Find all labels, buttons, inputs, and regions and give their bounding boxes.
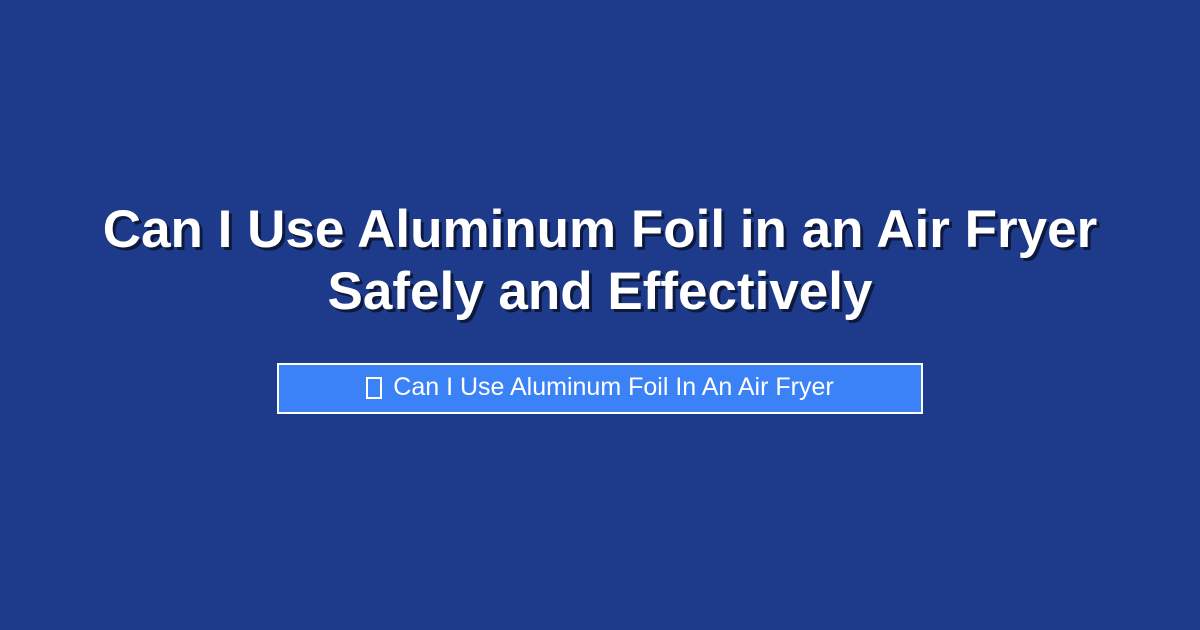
cta-container: Can I Use Aluminum Foil In An Air Fryer bbox=[277, 363, 923, 414]
page-title: Can I Use Aluminum Foil in an Air Fryer … bbox=[95, 199, 1105, 323]
social-share-card: Can I Use Aluminum Foil in an Air Fryer … bbox=[0, 0, 1200, 630]
cta-button-label: Can I Use Aluminum Foil In An Air Fryer bbox=[393, 375, 833, 400]
missing-glyph-box-icon bbox=[366, 377, 382, 399]
card-content: Can I Use Aluminum Foil in an Air Fryer … bbox=[70, 199, 1130, 414]
cta-button[interactable]: Can I Use Aluminum Foil In An Air Fryer bbox=[277, 363, 923, 414]
